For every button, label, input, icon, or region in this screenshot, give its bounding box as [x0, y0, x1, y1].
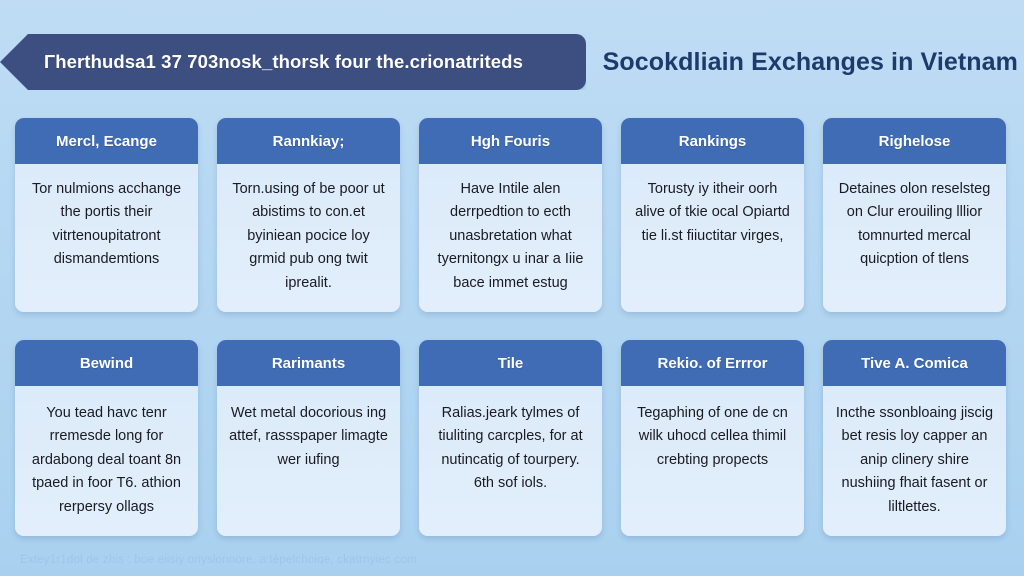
card-row-2: Bewind You tead havc tenr rremesde long …	[15, 340, 1009, 536]
card-body: Ralias.jeark tylmes of tiuliting carcple…	[419, 386, 602, 536]
card-tile[interactable]: Tile Ralias.jeark tylmes of tiuliting ca…	[419, 340, 602, 536]
card-body: Torn.using of be poor ut abistims to con…	[217, 164, 400, 312]
card-body: Incthe ssonbloaing jiscig bet resis loy …	[823, 386, 1006, 536]
card-rarimants[interactable]: Rarimants Wet metal docorious ing attef,…	[217, 340, 400, 536]
card-bewind[interactable]: Bewind You tead havc tenr rremesde long …	[15, 340, 198, 536]
card-title: Tive A. Comica	[823, 340, 1006, 386]
card-title: Rarimants	[217, 340, 400, 386]
card-merchant-exchange[interactable]: Mercl, Ecange Tor nulmions acchange the …	[15, 118, 198, 312]
card-rekio-of-error[interactable]: Rekio. of Errror Tegaphing of one de cn …	[621, 340, 804, 536]
card-row-1: Mercl, Ecange Tor nulmions acchange the …	[15, 118, 1009, 312]
card-righelose[interactable]: Righelose Detaines olon reselsteg on Clu…	[823, 118, 1006, 312]
card-title: Righelose	[823, 118, 1006, 164]
card-title: Mercl, Ecange	[15, 118, 198, 164]
card-title: Rekio. of Errror	[621, 340, 804, 386]
footer-note: Extey1r1dol de zhis : boe eiisiy onyslon…	[20, 554, 417, 566]
card-body: You tead havc tenr rremesde long for ard…	[15, 386, 198, 536]
card-body: Torusty iy itheir oorh alive of tkie oca…	[621, 164, 804, 312]
header-banner-label: Γherthudsa1 37 703nosk_thorsk four the.c…	[44, 51, 523, 73]
header-banner: Γherthudsa1 37 703nosk_thorsk four the.c…	[0, 34, 586, 90]
card-rankings[interactable]: Rankings Torusty iy itheir oorh alive of…	[621, 118, 804, 312]
card-body: Tor nulmions acchange the portis their v…	[15, 164, 198, 312]
card-body: Detaines olon reselsteg on Clur erouilin…	[823, 164, 1006, 312]
card-grid: Mercl, Ecange Tor nulmions acchange the …	[15, 118, 1009, 536]
header-row: Γherthudsa1 37 703nosk_thorsk four the.c…	[0, 34, 1024, 90]
card-tive-a-comica[interactable]: Tive A. Comica Incthe ssonbloaing jiscig…	[823, 340, 1006, 536]
card-title: Rannkiay;	[217, 118, 400, 164]
slide-canvas: Γherthudsa1 37 703nosk_thorsk four the.c…	[0, 0, 1024, 576]
card-title: Rankings	[621, 118, 804, 164]
card-body: Tegaphing of one de cn wilk uhocd cellea…	[621, 386, 804, 536]
card-high-fouris[interactable]: Hgh Fouris Have Intile alen derrpedtion …	[419, 118, 602, 312]
page-title: Socokdliain Exchanges in Vietnam	[603, 34, 1018, 90]
card-body: Wet metal docorious ing attef, rassspape…	[217, 386, 400, 536]
card-rankiay[interactable]: Rannkiay; Torn.using of be poor ut abist…	[217, 118, 400, 312]
card-title: Bewind	[15, 340, 198, 386]
card-title: Hgh Fouris	[419, 118, 602, 164]
card-body: Have Intile alen derrpedtion to ecth una…	[419, 164, 602, 312]
card-title: Tile	[419, 340, 602, 386]
